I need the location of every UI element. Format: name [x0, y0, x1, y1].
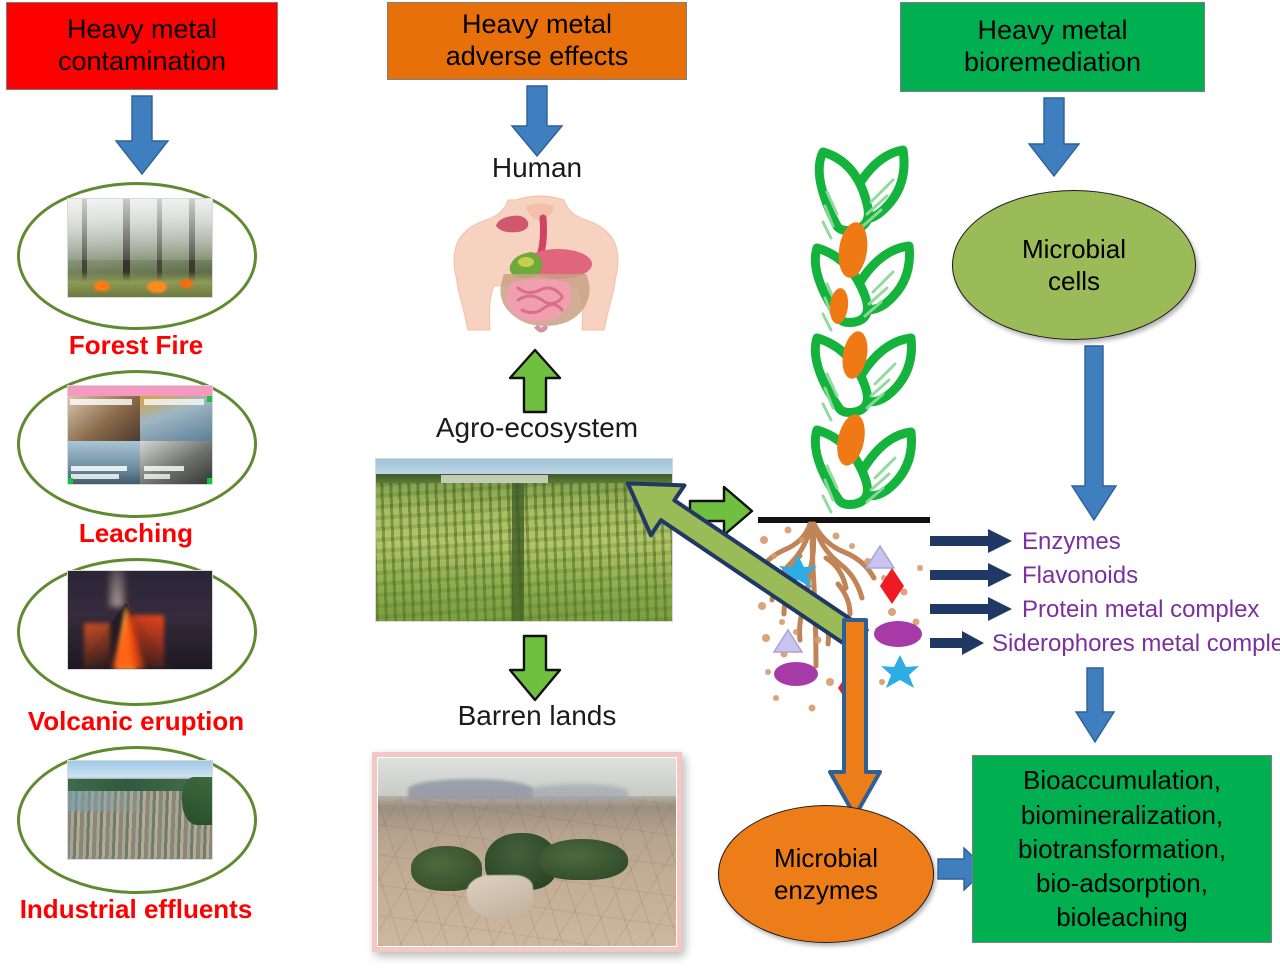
- human-digestive-system-illustration: [440, 190, 640, 330]
- caption-forest-fire: Forest Fire: [0, 330, 272, 361]
- caption-volcanic-eruption: Volcanic eruption: [0, 706, 272, 737]
- contamination-header-line1: Heavy metal: [58, 14, 226, 46]
- arrow-cells-to-secretions: [1070, 346, 1118, 522]
- barren-lands-label: Barren lands: [387, 700, 687, 732]
- bioremediation-header-line2: bioremediation: [964, 47, 1141, 79]
- outcome-line-1: Bioaccumulation,: [1018, 763, 1226, 797]
- caption-leaching: Leaching: [0, 518, 272, 549]
- agro-ecosystem-label: Agro-ecosystem: [387, 412, 687, 444]
- microbial-cells-line1: Microbial: [1022, 233, 1126, 266]
- adverse-header-line2: adverse effects: [446, 41, 629, 73]
- arrow-adverse-to-human: [508, 86, 566, 158]
- heavy-metal-adverse-effects-header: Heavy metal adverse effects: [387, 2, 687, 80]
- secretion-label-siderophores-metal-complex: Siderophores metal complex: [992, 630, 1280, 658]
- arrow-agro-to-human: [508, 348, 562, 414]
- arrow-secretions-to-outcomes: [1074, 668, 1116, 744]
- secretion-arrow-siderophores-metal-complex: [930, 630, 986, 656]
- caption-industrial-effluents: Industrial effluents: [0, 894, 272, 925]
- outcome-line-2: biomineralization,: [1018, 798, 1226, 832]
- secretion-arrow-protein-metal-complex: [930, 596, 1014, 622]
- adverse-header-line1: Heavy metal: [446, 9, 629, 41]
- bioremediation-header-line1: Heavy metal: [964, 15, 1141, 47]
- forest-fire-photo: [67, 198, 213, 298]
- arrow-rhizosphere-to-enzymes: [828, 620, 884, 820]
- volcano-eruption-photo: [67, 570, 213, 670]
- arrow-bioremediation-to-cells: [1025, 98, 1083, 178]
- arrow-contamination-to-sources: [112, 96, 172, 176]
- arrow-agro-to-barren: [508, 634, 562, 702]
- barren-cracked-land-photo: [378, 758, 676, 946]
- heavy-metal-contamination-header: Heavy metal contamination: [6, 2, 278, 90]
- microbial-enzymes-oval: Microbial enzymes: [718, 805, 934, 943]
- outcome-line-4: bio-adsorption,: [1018, 866, 1226, 900]
- secretion-label-flavonoids: Flavonoids: [1022, 562, 1138, 590]
- leaching-collage-photo: [67, 385, 213, 485]
- industrial-effluents-photo: [67, 760, 213, 860]
- microbial-cells-line2: cells: [1022, 265, 1126, 298]
- secretion-label-enzymes: Enzymes: [1022, 528, 1121, 556]
- outcome-line-3: biotransformation,: [1018, 832, 1226, 866]
- human-label: Human: [387, 152, 687, 184]
- outcome-line-5: bioleaching: [1018, 900, 1226, 934]
- microbial-enzymes-line2: enzymes: [774, 874, 878, 907]
- secretion-arrow-flavonoids: [930, 562, 1014, 588]
- contamination-header-line2: contamination: [58, 46, 226, 78]
- secretion-arrow-enzymes: [930, 528, 1014, 554]
- bioremediation-outcomes-box: Bioaccumulation, biomineralization, biot…: [972, 755, 1272, 943]
- microbial-cells-oval: Microbial cells: [952, 190, 1196, 340]
- heavy-metal-bioremediation-header: Heavy metal bioremediation: [900, 2, 1205, 92]
- microbial-enzymes-line1: Microbial: [774, 842, 878, 875]
- secretion-label-protein-metal-complex: Protein metal complex: [1022, 596, 1259, 624]
